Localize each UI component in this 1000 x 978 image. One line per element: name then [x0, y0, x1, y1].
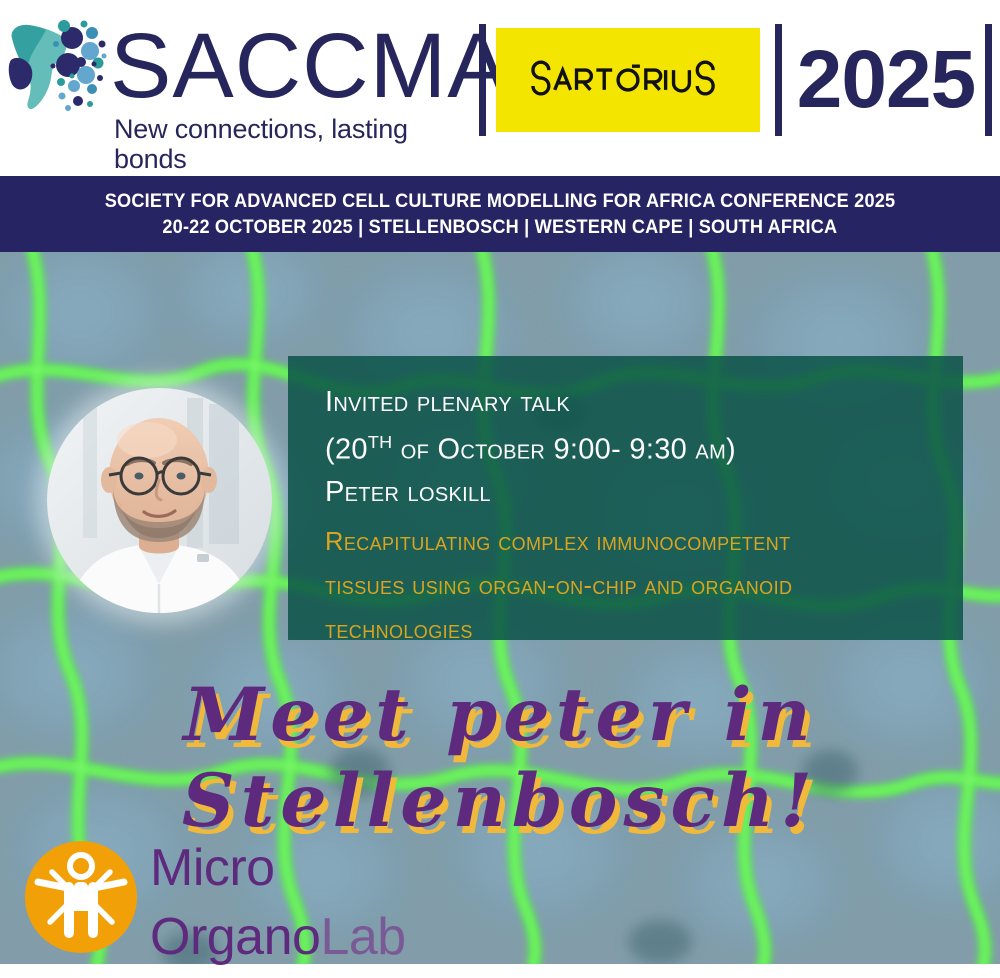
talk-title-line: technologies	[325, 608, 963, 652]
talk-title-line: tissues using organ-on-chip and organoid	[325, 564, 963, 608]
speaker-name-label: Peter loskill	[325, 472, 963, 512]
saccma-wordmark: SACCMA	[110, 20, 510, 112]
header-divider-1	[479, 24, 486, 136]
header-divider-3	[985, 24, 992, 136]
vitruvian-figure-icon	[22, 838, 140, 956]
logo-text-micro: Micro	[150, 839, 275, 897]
header-divider-2	[775, 24, 782, 136]
banner-title-line: SOCIETY FOR ADVANCED CELL CULTURE MODELL…	[105, 190, 896, 213]
date-ordinal-suffix: TH	[368, 432, 393, 452]
talk-title-line: Recapitulating complex immunocompetent	[325, 520, 963, 564]
banner-details-line: 20-22 OCTOBER 2025 | STELLENBOSCH | WEST…	[163, 216, 838, 239]
saccma-africa-dots-icon	[6, 16, 110, 120]
conference-year: 2025	[800, 30, 972, 130]
logo-text-organo: Organo	[150, 908, 320, 966]
saccma-logo: SACCMA New connections, lasting bonds	[6, 14, 476, 146]
logo-line-micro: Micro	[150, 840, 450, 909]
date-rest: of October 9:00- 9:30 am)	[392, 434, 736, 466]
logo-line-organolab: OrganoLab	[150, 909, 450, 978]
saccma-tagline: New connections, lasting bonds	[114, 114, 476, 174]
sartorius-wordmark-icon	[529, 58, 727, 102]
speaker-photo-icon	[47, 388, 272, 613]
talk-datetime-label: (20TH of October 9:00- 9:30 am)	[325, 422, 963, 470]
talk-title-block: Recapitulating complex immunocompetent t…	[325, 520, 963, 652]
sartorius-logo-box	[496, 28, 760, 132]
speaker-portrait	[47, 388, 272, 613]
microorganolab-logo: Micro OrganoLab	[22, 838, 442, 956]
microorganolab-wordmark: Micro OrganoLab	[150, 840, 450, 956]
talk-info-card: Invited plenary talk (20TH of October 9:…	[288, 356, 963, 640]
talk-type-label: Invited plenary talk	[325, 382, 963, 422]
date-prefix: (20	[325, 434, 368, 466]
logo-text-lab: Lab	[320, 908, 405, 966]
conference-banner: SOCIETY FOR ADVANCED CELL CULTURE MODELL…	[0, 176, 1000, 252]
header-bar: SACCMA New connections, lasting bonds 20…	[0, 0, 1000, 176]
